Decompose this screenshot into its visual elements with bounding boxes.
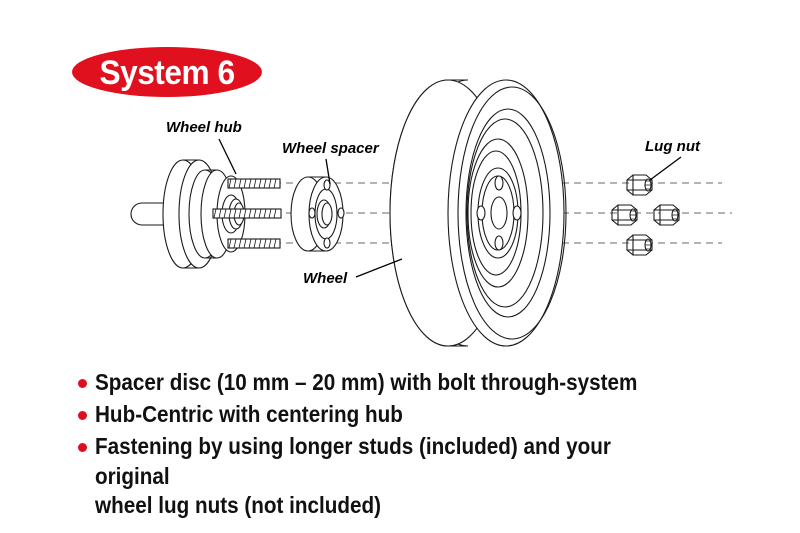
stud-bottom bbox=[228, 239, 280, 248]
badge-label: System 6 bbox=[99, 53, 234, 91]
lug-nut-bottom bbox=[627, 235, 652, 255]
stud-middle bbox=[213, 209, 281, 218]
wheel-lug-hole-left bbox=[477, 206, 485, 220]
spacer-bolt-hole-left bbox=[309, 208, 315, 218]
label-wheel-spacer-text: Wheel spacer bbox=[282, 140, 380, 157]
wheel-spacer-part bbox=[291, 177, 344, 251]
spacer-bolt-hole-right bbox=[338, 208, 344, 218]
lug-nut-mr-face-edge bbox=[654, 205, 660, 225]
spacer-bolt-hole-bottom bbox=[324, 238, 330, 248]
system-badge: System 6 bbox=[72, 47, 262, 97]
wheel-lug-hole-top bbox=[495, 176, 503, 190]
bullet-dot-icon bbox=[78, 443, 87, 452]
diagram-page: System 6 bbox=[0, 0, 800, 533]
spacer-center-bore-inner bbox=[322, 203, 332, 225]
lug-nut-middle-left bbox=[612, 205, 637, 225]
bullet-dot-icon bbox=[78, 379, 87, 388]
stud-top bbox=[228, 179, 280, 188]
label-lug-nut: Lug nut bbox=[645, 138, 701, 180]
label-wheel-hub-leader bbox=[219, 139, 236, 174]
feature-list: Spacer disc (10 mm – 20 mm) with bolt th… bbox=[78, 368, 768, 523]
wheel-lug-hole-bottom bbox=[495, 236, 503, 250]
list-item: Spacer disc (10 mm – 20 mm) with bolt th… bbox=[78, 368, 768, 398]
wheel-center-bore bbox=[491, 197, 507, 229]
lug-nut-ml-face-edge bbox=[612, 205, 618, 225]
list-item: Fastening by using longer studs (include… bbox=[78, 432, 768, 522]
feature-text: Hub-Centric with centering hub bbox=[95, 400, 403, 430]
list-item: Hub-Centric with centering hub bbox=[78, 400, 768, 430]
label-wheel: Wheel bbox=[303, 259, 402, 287]
lug-nut-top-face-edge bbox=[627, 175, 633, 195]
bullet-dot-icon bbox=[78, 411, 87, 420]
label-wheel-hub-text: Wheel hub bbox=[166, 119, 242, 136]
label-wheel-text: Wheel bbox=[303, 270, 348, 287]
wheel-hub-assembly bbox=[131, 160, 281, 268]
wheel-lug-hole-right bbox=[513, 206, 521, 220]
label-lug-nut-text: Lug nut bbox=[645, 138, 701, 155]
feature-text: Fastening by using longer studs (include… bbox=[95, 432, 687, 522]
wheel-part bbox=[390, 80, 566, 346]
lug-nut-middle-right bbox=[654, 205, 679, 225]
label-lug-nut-leader bbox=[650, 157, 681, 180]
lug-nut-top bbox=[627, 175, 652, 195]
feature-text: Spacer disc (10 mm – 20 mm) with bolt th… bbox=[95, 368, 637, 398]
lug-nut-bottom-face-edge bbox=[627, 235, 633, 255]
label-wheel-spacer: Wheel spacer bbox=[282, 140, 380, 184]
